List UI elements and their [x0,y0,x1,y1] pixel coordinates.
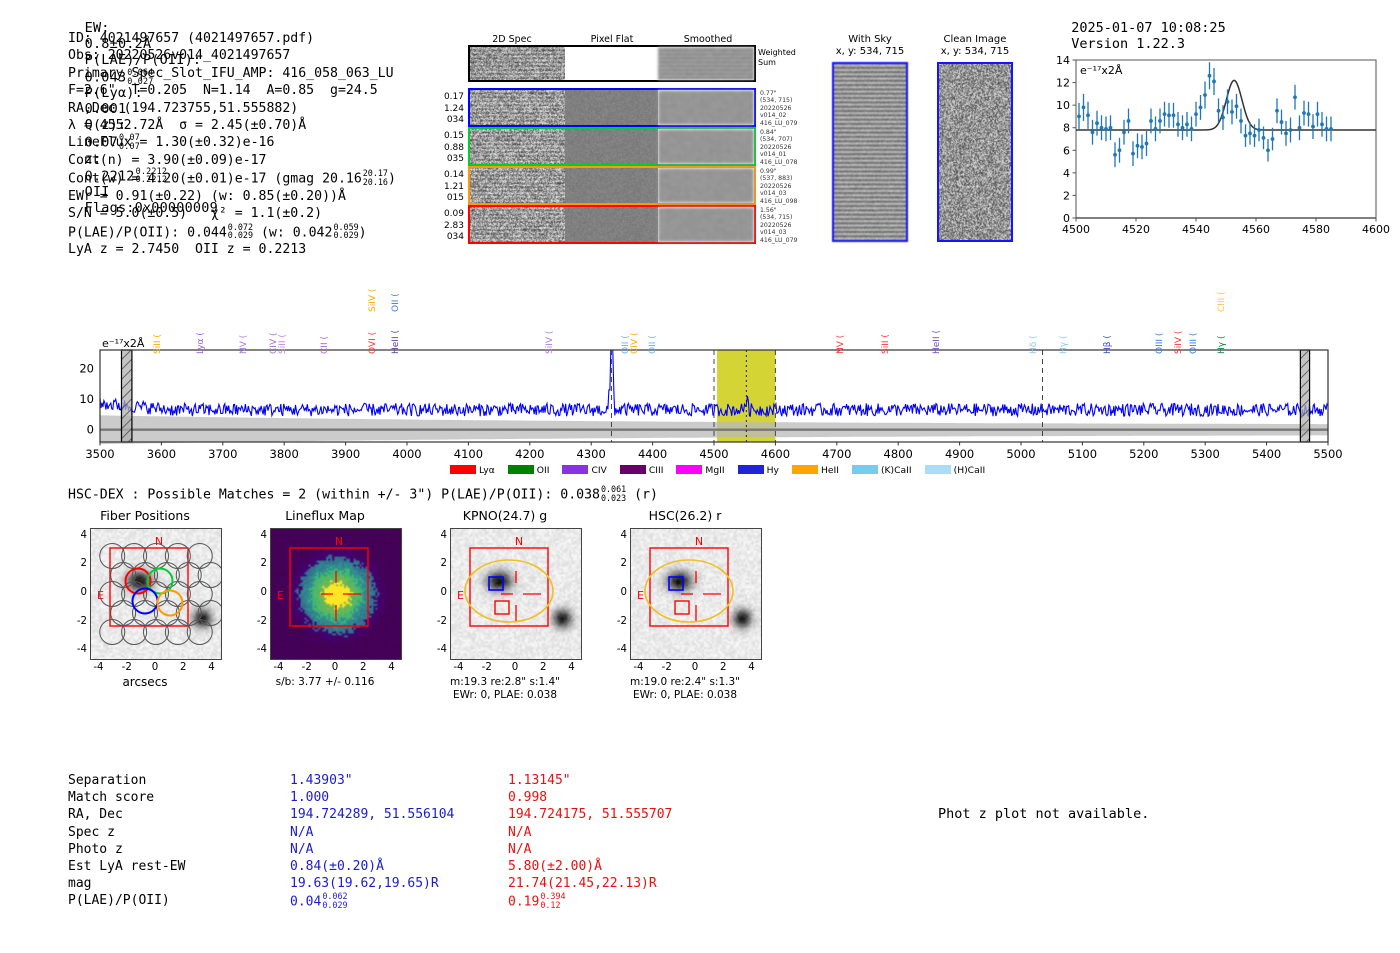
info-cont-w: Cont(w) = 4.20(±0.01)e-17 (gmag 20.1620.… [68,169,396,188]
legend-label-Lyα: Lyα [479,465,495,476]
fiber-panel-2 [468,166,756,205]
cutout-3-xtick: 0 [683,662,707,673]
emission-line-label-20: OIII ( [1189,333,1199,354]
svg-text:8: 8 [1063,122,1070,135]
cutout-title-1: Lineflux Map [235,508,415,523]
cutout-1-xtick: 2 [351,662,375,673]
emission-line-label-upper-1: OII ( [391,293,401,312]
emission-line-label-2: NV ( [239,335,249,354]
photz-note: Phot z plot not available. [938,806,1149,822]
cutout-panel-group: Fiber PositionsNE-4-4-2-2002244arcsecsLi… [55,508,835,728]
cutout-caption-1: s/b: 3.77 +/- 0.116 [227,676,423,689]
cutout-image-2[interactable]: NE [450,528,582,660]
spec2d-col-title-1: Pixel Flat [562,34,662,45]
match-value: 1.000 [290,789,454,806]
svg-text:3500: 3500 [85,447,114,461]
match-value: 0.84(±0.20)Å [290,858,454,875]
cutout-2-ytick: -4 [419,644,447,655]
cutout-3-xtick: 4 [740,662,764,673]
match-table-labels: Separation Match score RA, Dec Spec z Ph… [68,772,185,910]
svg-text:e⁻¹⁷x2Å: e⁻¹⁷x2Å [102,337,145,350]
weighted-sum-panel [468,45,756,82]
cutout-title-2: KPNO(24.7) g [415,508,595,523]
svg-text:6: 6 [1063,144,1070,157]
emission-line-label-10: CIV ( [630,333,640,354]
weighted-sum-2dspec [470,47,565,80]
line-profile-plot: 02468101214450045204540456045804600e⁻¹⁷x… [1032,44,1392,240]
info-plae: P(LAE)/P(OII): 0.0440.0720.029 (w: 0.042… [68,223,396,242]
svg-text:4500: 4500 [1062,223,1090,236]
legend-label-MgII: MgII [705,465,724,476]
legend-swatch-CIV [562,465,588,474]
cutout-2-xtick: 2 [531,662,555,673]
svg-text:E: E [457,589,464,602]
svg-text:3700: 3700 [208,447,237,461]
with-sky-image [832,62,908,242]
legend-swatch-Hy [738,465,764,474]
info-cont-n: Cont(n) = 3.90(±0.09)e-17 [68,152,396,169]
svg-text:4000: 4000 [392,447,421,461]
fiber-metrics-0: 0.17 1.24 034 [432,92,464,127]
cutout-xlabel-0: arcsecs [55,676,235,689]
svg-text:0: 0 [87,423,94,437]
cutout-caption-2: m:19.3 re:2.8" s:1.4" [407,676,603,689]
sky-panel-coords-1: x, y: 534, 715 [925,46,1025,57]
fiber-smoothed-0 [658,90,754,125]
cutout-1-xtick: 4 [380,662,404,673]
match-value: 0.190.3940.12 [508,892,672,910]
cutout-0-xtick: -2 [115,662,139,673]
cutout-image-1[interactable]: NE [270,528,402,660]
fiber-smoothed-2 [658,168,754,203]
sky-panel-title-1: Clean Image [925,34,1025,46]
fiber-2dspec-1 [470,129,565,164]
svg-text:5000: 5000 [1006,447,1035,461]
cutout-0-ytick: -2 [59,616,87,627]
svg-text:5300: 5300 [1191,447,1220,461]
cutout-2-xtick: 4 [560,662,584,673]
svg-text:10: 10 [79,392,94,406]
cutout-3-ytick: 4 [599,530,627,541]
cutout-image-0[interactable]: NE [90,528,222,660]
cutout-image-3[interactable]: NE [630,528,762,660]
svg-text:5400: 5400 [1252,447,1281,461]
legend-label-Hy: Hy [767,465,779,476]
cutout-caption2-2: EWr: 0, PLAE: 0.038 [407,689,603,702]
emission-line-label-17: Hβ ( [1103,335,1113,354]
cutout-1-xtick: -2 [295,662,319,673]
cutout-1-ytick: -4 [239,644,267,655]
cutout-0-xtick: -4 [86,662,110,673]
spec2d-col-title-2: Smoothed [658,34,758,45]
full-spectrum-plot: 0102035003600370038003900400041004200430… [60,272,1350,472]
svg-text:5500: 5500 [1313,447,1342,461]
match-value: 21.74(21.45,22.13)R [508,875,672,892]
svg-text:E: E [637,589,644,602]
svg-text:2: 2 [1063,189,1070,202]
legend-label-CIII: CIII [649,465,664,476]
emission-line-label-upper-2: CIII ( [1217,291,1227,312]
cutout-0-xtick: 4 [200,662,224,673]
svg-text:5200: 5200 [1129,447,1158,461]
svg-text:14: 14 [1056,54,1070,67]
svg-text:4600: 4600 [1362,223,1390,236]
cutout-2-xtick: 0 [503,662,527,673]
weighted-sum-label: Weighted Sum [758,48,796,68]
clean-image [937,62,1013,242]
fiber-2dspec-3 [470,207,565,242]
info-id: ID: 4021497657 (4021497657.pdf) [68,30,396,47]
sky-panel-coords-0: x, y: 534, 715 [820,46,920,57]
fiber-metrics-1: 0.15 0.88 035 [432,131,464,166]
emission-line-label-16: Hγ ( [1059,336,1069,354]
cutout-title-3: HSC(26.2) r [595,508,775,523]
weighted-sum-smoothed [658,47,754,80]
match-value: N/A [290,824,454,841]
fiber-pixelflat-1 [565,129,658,164]
cutout-2-xtick: -2 [475,662,499,673]
legend-swatch-OII [508,465,534,474]
cutout-title-0: Fiber Positions [55,508,235,523]
cutout-1-ytick: -2 [239,616,267,627]
fiber-meta-0: 0.77" (534, 715) 20220526 v014_02 416_LU… [760,90,797,127]
svg-text:3800: 3800 [270,447,299,461]
cutout-2-ytick: -2 [419,616,447,627]
cutout-3-ytick: -4 [599,644,627,655]
legend-label-HCaII: (H)CaII [954,465,986,476]
legend-label-KCaII: (K)CaII [881,465,912,476]
spec2d-col-title-0: 2D Spec [462,34,562,45]
cutout-1-ytick: 4 [239,530,267,541]
svg-text:10: 10 [1056,99,1070,112]
info-seeing: F=2.6" T=0.205 N=1.14 A=0.85 g=24.5 [68,82,396,99]
svg-text:4520: 4520 [1122,223,1150,236]
cutout-overlay-1: NE [271,529,401,659]
match-table-col-1: 1.43903"1.000194.724289, 51.556104N/AN/A… [290,772,454,911]
cutout-3-xtick: -4 [626,662,650,673]
cutout-0-xtick: 0 [143,662,167,673]
emission-line-label-8: SiIV ( [545,331,555,354]
cutout-3-ytick: 2 [599,558,627,569]
cutout-1-ytick: 0 [239,587,267,598]
svg-text:N: N [515,535,523,548]
svg-text:4560: 4560 [1242,223,1270,236]
fiber-panel-1 [468,127,756,166]
info-lambda: λ = 4552.72Å σ = 2.45(±0.70)Å [68,117,396,134]
svg-text:3900: 3900 [331,447,360,461]
cutout-overlay-0: NE [91,529,221,659]
match-value: N/A [508,841,672,858]
emission-line-label-12: NV ( [836,335,846,354]
emission-line-label-upper-0: SiIV ( [368,289,378,312]
emission-line-label-1: Lyα ( [196,332,206,354]
emission-line-label-5: CII ( [320,336,330,354]
cutout-0-ytick: 4 [59,530,87,541]
match-value: N/A [508,824,672,841]
match-value: 194.724289, 51.556104 [290,806,454,823]
info-obs: Obs: 20220526v014_4021497657 [68,47,396,64]
emission-line-label-15: Hδ ( [1029,335,1039,354]
match-value: 0.998 [508,789,672,806]
info-redshifts: LyA z = 2.7450 OII z = 0.2213 [68,241,396,258]
sky-panel-title-0: With Sky [820,34,920,46]
cutout-overlay-2: NE [451,529,581,659]
emission-line-label-11: OII ( [648,335,658,354]
fiber-smoothed-1 [658,129,754,164]
emission-line-label-21: Hγ ( [1217,336,1227,354]
fiber-meta-2: 0.99" (537, 883) 20220526 v014_03 416_LU… [760,168,797,205]
svg-text:N: N [335,535,343,548]
svg-text:e⁻¹⁷x2Å: e⁻¹⁷x2Å [1080,64,1123,77]
emission-line-label-0: SiII ( [153,334,163,354]
emission-line-label-19: SiIV ( [1174,331,1184,354]
match-value: 5.80(±2.00)Å [508,858,672,875]
svg-text:12: 12 [1056,77,1070,90]
fiber-metrics-2: 0.14 1.21 015 [432,170,464,205]
legend-swatch-CIII [620,465,646,474]
svg-text:E: E [277,589,284,602]
fiber-metrics-3: 0.09 2.83 034 [432,209,464,244]
cutout-0-ytick: 0 [59,587,87,598]
cutout-3-ytick: -2 [599,616,627,627]
svg-text:5100: 5100 [1068,447,1097,461]
emission-line-label-6: OVI ( [368,332,378,354]
legend-swatch-HeII [792,465,818,474]
match-value: 1.13145" [508,772,672,789]
fiber-2dspec-2 [470,168,565,203]
legend-label-CIV: CIV [591,465,606,476]
match-table-col-2: 1.13145"0.998194.724175, 51.555707N/AN/A… [508,772,672,911]
fiber-pixelflat-0 [565,90,658,125]
match-value: 0.040.0620.029 [290,892,454,910]
fiber-pixelflat-3 [565,207,658,242]
match-value: 194.724175, 51.555707 [508,806,672,823]
match-value: 19.63(19.62,19.65)R [290,875,454,892]
cutout-overlay-3: NE [631,529,761,659]
legend-swatch-KCaII [852,465,878,474]
emission-line-label-13: SiII ( [881,334,891,354]
cutout-2-ytick: 4 [419,530,447,541]
cutout-1-xtick: -4 [266,662,290,673]
legend-swatch-MgII [676,465,702,474]
object-info-block: ID: 4021497657 (4021497657.pdf) Obs: 202… [68,30,396,259]
svg-text:N: N [155,535,163,548]
hscdex-band: (r) [634,487,658,502]
hscdex-prefix: HSC-DEX : Possible Matches = 2 (within +… [68,487,600,502]
info-sn: S/N = 5.0(±0.5) χ² = 1.1(±0.2) [68,205,396,222]
emission-line-label-7: HeII ( [391,330,401,354]
legend-swatch-HCaII [925,465,951,474]
cutout-1-ytick: 2 [239,558,267,569]
fiber-panel-0 [468,88,756,127]
info-radec: RA,Dec (194.723755,51.555882) [68,100,396,117]
cutout-2-ytick: 2 [419,558,447,569]
info-ewr: EWr = 0.91(±0.22) (w: 0.85(±0.20))Å [68,188,396,205]
fiber-pixelflat-2 [565,168,658,203]
match-value: 1.43903" [290,772,454,789]
cutout-3-xtick: -2 [655,662,679,673]
hscdex-uncertainty: 0.0610.023 [601,485,626,502]
spectrum-legend: LyαOIICIVCIIIMgIIHyHeII(K)CaII(H)CaII [450,458,998,477]
cutout-3-xtick: 2 [711,662,735,673]
cutout-1-xtick: 0 [323,662,347,673]
emission-line-label-4: SiII ( [278,334,288,354]
svg-text:20: 20 [79,361,94,375]
legend-label-HeII: HeII [821,465,839,476]
fiber-meta-1: 0.84" (534, 707) 20220526 v014_01 416_LU… [760,129,797,166]
info-lineflux: LineFlux = 1.30(±0.32)e-16 [68,134,396,151]
svg-text:4540: 4540 [1182,223,1210,236]
fiber-smoothed-3 [658,207,754,242]
cutout-caption-3: m:19.0 re:2.4" s:1.3" [587,676,783,689]
cutout-0-xtick: 2 [171,662,195,673]
fiber-2dspec-0 [470,90,565,125]
svg-text:4580: 4580 [1302,223,1330,236]
info-slot: Primary Spec_Slot_IFU_AMP: 416_058_063_L… [68,65,396,82]
fiber-panel-3 [468,205,756,244]
svg-text:4: 4 [1063,167,1070,180]
match-value: N/A [290,841,454,858]
fiber-meta-3: 1.56" (534, 715) 20220526 v014_03 416_LU… [760,207,797,244]
cutout-0-ytick: -4 [59,644,87,655]
emission-line-label-14: HeII ( [932,330,942,354]
svg-text:3600: 3600 [147,447,176,461]
cutout-2-ytick: 0 [419,587,447,598]
cutout-3-ytick: 0 [599,587,627,598]
cutout-caption2-3: EWr: 0, PLAE: 0.038 [587,689,783,702]
legend-label-OII: OII [537,465,550,476]
svg-text:N: N [695,535,703,548]
legend-swatch-Lyα [450,465,476,474]
hscdex-summary: HSC-DEX : Possible Matches = 2 (within +… [68,485,658,502]
timestamp: 2025-01-07 10:08:25 [1071,20,1225,36]
cutout-0-ytick: 2 [59,558,87,569]
cutout-2-xtick: -4 [446,662,470,673]
emission-line-label-18: OIII ( [1155,333,1165,354]
